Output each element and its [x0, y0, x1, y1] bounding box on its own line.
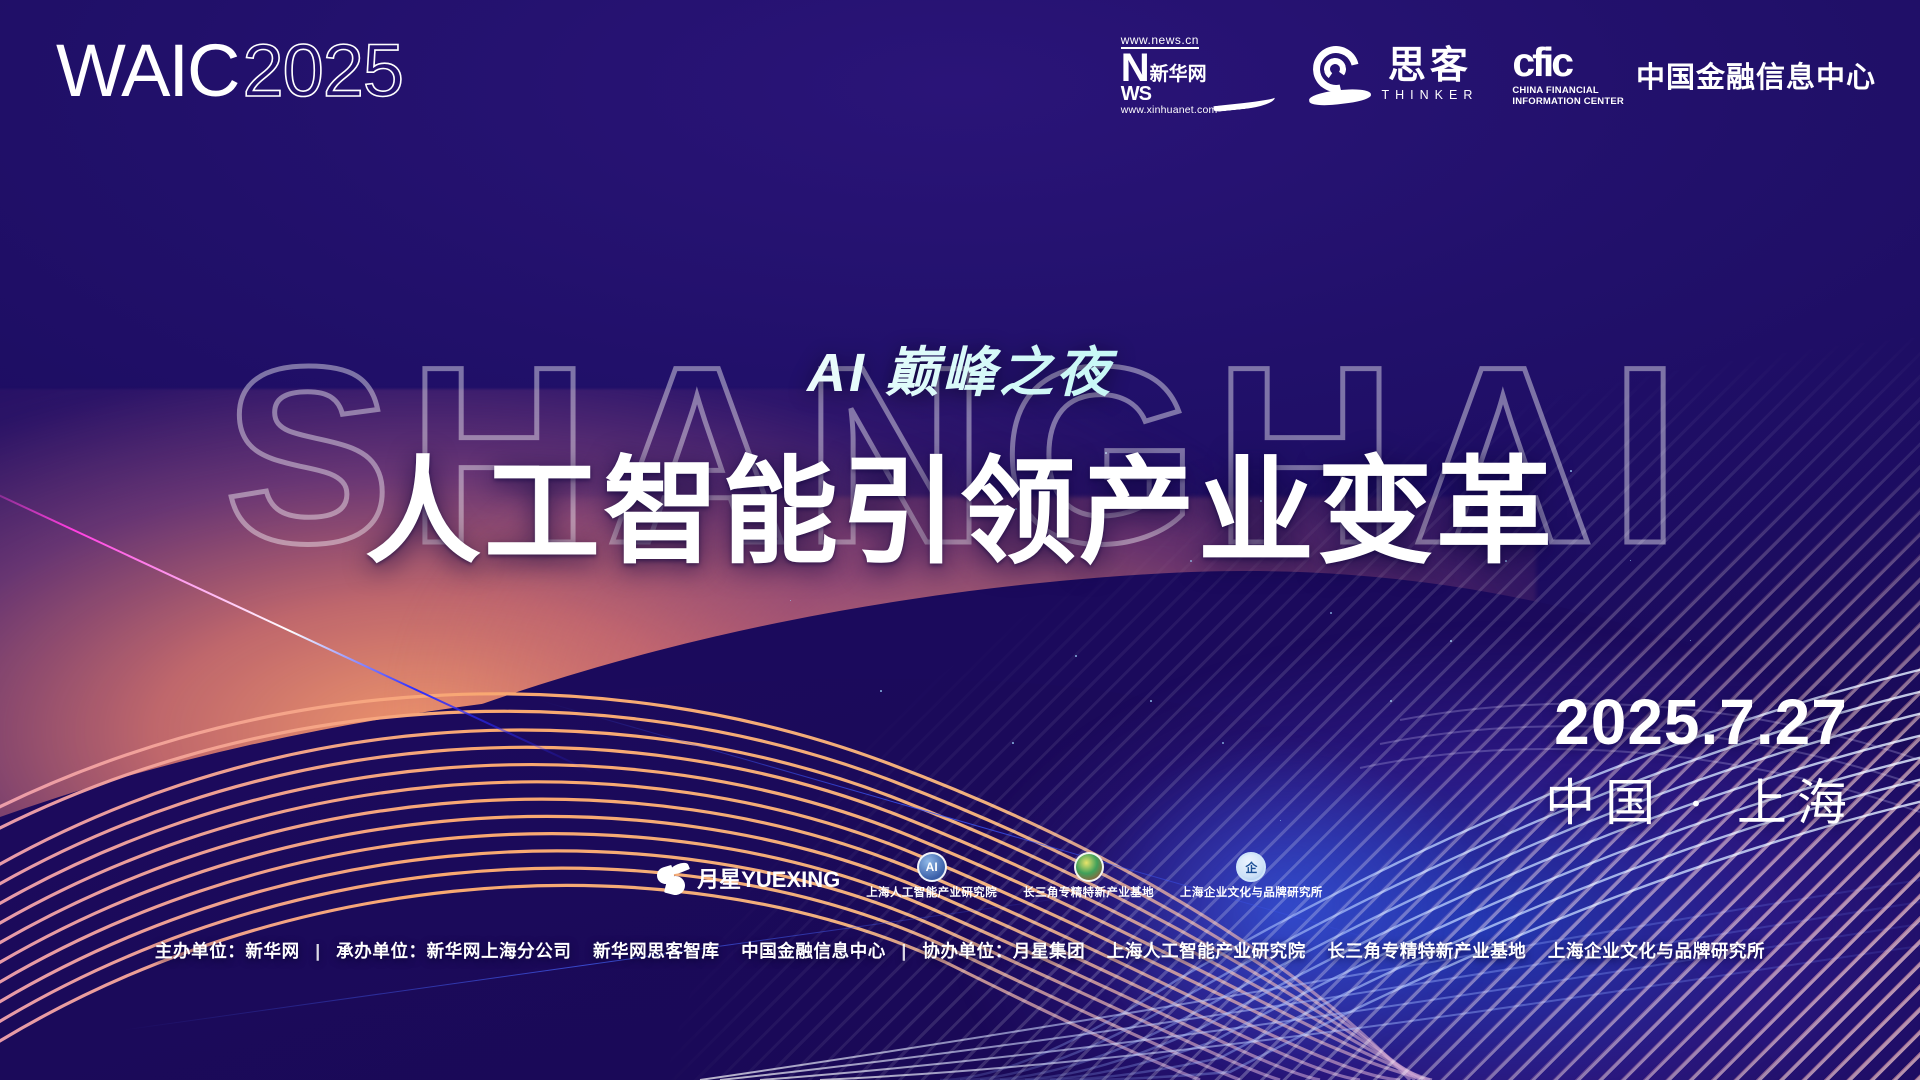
credits-separator-2: | [891, 941, 917, 961]
credits-coorganizer-4: 上海企业文化与品牌研究所 [1548, 941, 1765, 961]
cfic-wordmark: cfic [1512, 42, 1571, 83]
yangtze-delta-base-icon [1074, 852, 1104, 882]
credits-line: 主办单位：新华网 | 承办单位：新华网上海分公司 新华网思客智库 中国金融信息中… [0, 938, 1920, 963]
credits-organizer-3: 中国金融信息中心 [741, 941, 886, 961]
event-headline: 人工智能引领产业变革 [0, 418, 1920, 586]
sponsor-name-yangtze-delta-base: 长三角专精特新产业基地 [1023, 884, 1154, 900]
partner-logo-xinhuanet: www.news.cn N 新华网 WS www.xinhuanet.com [1121, 34, 1276, 115]
xinhuanet-url-bottom: www.xinhuanet.com [1121, 105, 1218, 116]
sponsor-enterprise-culture-brand: 企 上海企业文化与品牌研究所 [1180, 852, 1323, 900]
thinker-name-en: THINKER [1381, 89, 1478, 102]
credits-separator-1: | [305, 941, 331, 961]
cfic-sub-line1: CHINA FINANCIAL [1512, 85, 1599, 96]
waic-logo-word: WAIC [56, 34, 238, 108]
credits-coorganizer: 协办单位：月星集团 [922, 941, 1085, 961]
event-eyebrow-title: AI 巅峰之夜 [0, 328, 1920, 407]
sponsor-shanghai-ai-institute: AI 上海人工智能产业研究院 [866, 852, 997, 900]
sponsor-name-enterprise-culture-brand: 上海企业文化与品牌研究所 [1180, 884, 1323, 900]
credits-coorganizer-2: 上海人工智能产业研究院 [1107, 941, 1306, 961]
waic-logo: WAIC 2025 [56, 34, 403, 108]
credits-coorganizer-3: 长三角专精特新产业基地 [1327, 941, 1526, 961]
shanghai-ai-institute-icon: AI [917, 852, 947, 882]
sponsor-name-shanghai-ai-institute: 上海人工智能产业研究院 [866, 884, 997, 900]
event-date: 2025.7.27 [1536, 690, 1866, 754]
sponsor-yangtze-delta-base: 长三角专精特新产业基地 [1023, 852, 1154, 900]
xinhuanet-letter-n: N [1121, 52, 1148, 85]
poster-header: WAIC 2025 www.news.cn N 新华网 WS www.xinhu… [0, 0, 1920, 140]
event-date-block: 2025.7.27 中国 · 上海 [1536, 690, 1866, 828]
cfic-name-cn: 中国金融信息中心 [1636, 54, 1876, 96]
yuexing-star-icon [657, 864, 691, 896]
event-place: 中国 · 上海 [1536, 778, 1866, 828]
cfic-mark-icon: cfic CHINA FINANCIAL INFORMATION CENTER [1512, 42, 1624, 107]
poster-canvas: SHANGHAI [0, 0, 1920, 1080]
xinhuanet-letter-ws: WS [1121, 85, 1151, 103]
thinker-name-cn: 思客 [1388, 47, 1472, 85]
sponsor-name-yuexing: 月星YUEXING [697, 869, 840, 891]
thinker-brush-swirl-icon [1309, 44, 1371, 106]
partner-logo-cfic: cfic CHINA FINANCIAL INFORMATION CENTER … [1512, 42, 1876, 107]
credits-organizer: 承办单位：新华网上海分公司 [336, 941, 571, 961]
xinhuanet-name-cn: 新华网 [1150, 65, 1207, 84]
credits-organizer-2: 新华网思客智库 [593, 941, 720, 961]
sponsor-yuexing: 月星YUEXING [657, 864, 840, 900]
cfic-sub-line2: INFORMATION CENTER [1512, 96, 1624, 107]
enterprise-culture-brand-icon: 企 [1236, 852, 1266, 882]
partner-logo-row: www.news.cn N 新华网 WS www.xinhuanet.com [1121, 34, 1876, 115]
partner-logo-thinker: 思客 THINKER [1309, 44, 1478, 106]
credits-host: 主办单位：新华网 [155, 941, 300, 961]
xinhuanet-swoosh-icon [1213, 90, 1276, 112]
sponsor-logo-strip: 月星YUEXING AI 上海人工智能产业研究院 长三角专精特新产业基地 企 上… [0, 852, 1920, 900]
waic-logo-year: 2025 [242, 34, 403, 108]
